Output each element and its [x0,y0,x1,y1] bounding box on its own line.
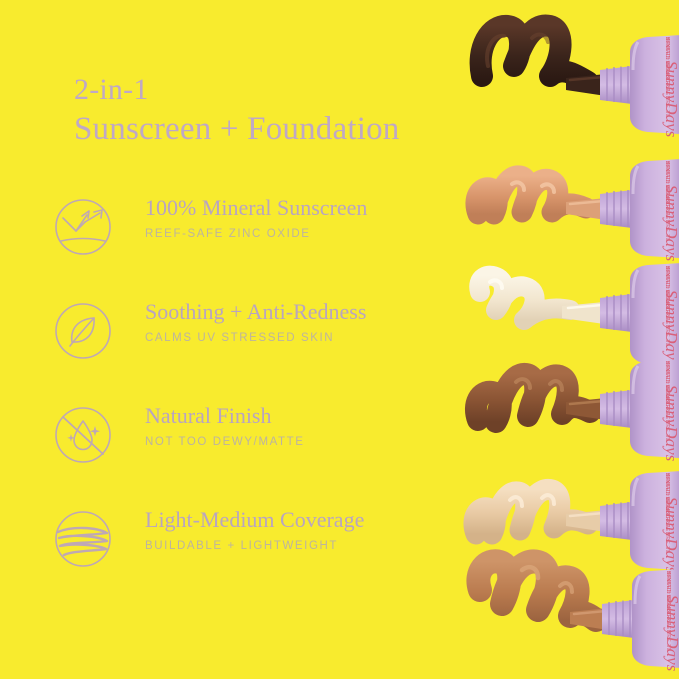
svg-text:30 ML / 1 FL. OZ.: 30 ML / 1 FL. OZ. [665,473,670,517]
bottle-neck-2 [600,190,632,228]
headline-line-1: 2-in-1 [74,73,504,108]
svg-text:30 ML / 1 FL. OZ.: 30 ML / 1 FL. OZ. [665,161,670,205]
bottle-neck-4 [600,390,632,428]
bottle-neck-6 [602,600,634,638]
bottle-neck-1 [600,66,632,104]
product-infographic: 2-in-1 Sunscreen + Foundation 100% Miner… [0,0,679,679]
feature-subtitle: BUILDABLE + LIGHTWEIGHT [145,540,465,552]
bottle-neck-3 [600,294,632,332]
swatch-smear-1 [481,26,588,82]
svg-text:30 ML / 1 FL. OZ.: 30 ML / 1 FL. OZ. [666,571,671,615]
feature-subtitle: CALMS UV STRESSED SKIN [145,332,465,344]
no-dewy-drop-icon [52,404,114,466]
feature-subtitle: NOT TOO DEWY/MATTE [145,436,465,448]
page-title: 2-in-1 Sunscreen + Foundation [74,73,504,148]
product-bottle-6[interactable]: SunnyDays BROAD SPECTRUM SPF 30 TINTED S… [470,528,679,668]
product-bottle-4[interactable]: SunnyDays BROAD SPECTRUM SPF 30 TINTED S… [470,328,679,458]
svg-text:30 ML / 1 FL. OZ.: 30 ML / 1 FL. OZ. [665,361,670,405]
leaf-icon [52,300,114,362]
feature-list: 100% Mineral Sunscreen REEF-SAFE ZINC OX… [50,190,470,606]
feature-title: Natural Finish [145,402,465,430]
feature-title: Soothing + Anti-Redness [145,298,465,326]
product-bottle-1[interactable]: SunnyDays BROAD SPECTRUM SPF 30 TINTED S… [470,8,679,138]
feature-subtitle: REEF-SAFE ZINC OXIDE [145,228,465,240]
svg-text:30 ML / 1 FL. OZ.: 30 ML / 1 FL. OZ. [665,37,670,81]
feature-item-soothing: Soothing + Anti-Redness CALMS UV STRESSE… [50,294,470,398]
feature-title: 100% Mineral Sunscreen [145,194,465,222]
feature-item-coverage: Light-Medium Coverage BUILDABLE + LIGHTW… [50,502,470,606]
uv-deflect-icon [52,196,114,258]
swatch-smear-3 [479,276,570,320]
coverage-swatch-icon [52,508,114,570]
product-bottle-2[interactable]: SunnyDays BROAD SPECTRUM SPF 30 TINTED S… [470,140,679,260]
feature-title: Light-Medium Coverage [145,506,465,534]
feature-item-natural-finish: Natural Finish NOT TOO DEWY/MATTE [50,398,470,502]
feature-item-mineral-sunscreen: 100% Mineral Sunscreen REEF-SAFE ZINC OX… [50,190,470,294]
headline-line-2: Sunscreen + Foundation [74,110,504,148]
svg-text:30 ML / 1 FL. OZ.: 30 ML / 1 FL. OZ. [665,266,670,310]
